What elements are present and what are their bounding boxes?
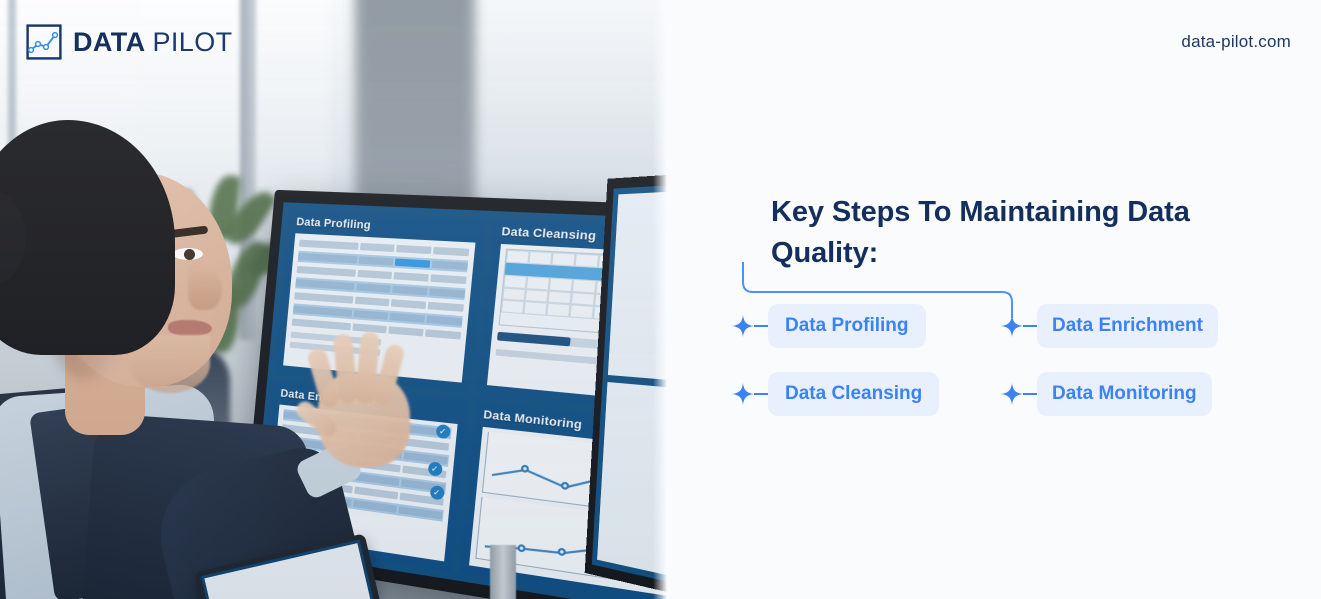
secondary-panel-top — [608, 190, 667, 382]
logo-word-pilot: PILOT — [153, 27, 233, 57]
logo-word-data: DATA — [73, 27, 145, 57]
person-foreground — [0, 120, 300, 599]
step-label-data-profiling[interactable]: Data Profiling — [768, 304, 926, 348]
secondary-panel-bottom — [597, 382, 667, 578]
step-label-data-monitoring[interactable]: Data Monitoring — [1037, 372, 1212, 416]
poster-canvas: Data Profiling Data Cleansing — [0, 0, 1321, 599]
step-node-data-profiling[interactable]: Data Profiling — [732, 304, 926, 348]
four-point-star-icon — [732, 383, 754, 405]
step-node-data-enrichment[interactable]: Data Enrichment — [1001, 304, 1218, 348]
step-label-data-enrichment[interactable]: Data Enrichment — [1037, 304, 1218, 348]
pupil — [184, 249, 195, 260]
line-chart-in-square-icon — [26, 24, 62, 60]
site-url[interactable]: data-pilot.com — [1181, 32, 1291, 52]
four-point-star-icon — [1001, 383, 1023, 405]
step-node-data-cleansing[interactable]: Data Cleansing — [732, 372, 939, 416]
secondary-screen — [592, 183, 667, 585]
nose — [188, 266, 222, 310]
pointing-hand — [310, 330, 425, 470]
four-point-star-icon — [1001, 315, 1023, 337]
step-node-data-monitoring[interactable]: Data Monitoring — [1001, 372, 1212, 416]
logo-wordmark: DATA PILOT — [73, 27, 233, 58]
brand-logo[interactable]: DATA PILOT — [26, 24, 233, 60]
node-connector-dash — [1023, 393, 1037, 395]
four-point-star-icon — [732, 315, 754, 337]
node-connector-dash — [754, 393, 768, 395]
steps-diagram: Data Profiling Data Cleansing Data Enric… — [727, 262, 1317, 422]
step-label-data-cleansing[interactable]: Data Cleansing — [768, 372, 939, 416]
hero-photo: Data Profiling Data Cleansing — [0, 0, 667, 599]
monitor-stand — [490, 545, 516, 599]
hair — [0, 120, 175, 355]
node-connector-dash — [1023, 325, 1037, 327]
content-panel: data-pilot.com Key Steps To Maintaining … — [667, 0, 1321, 599]
node-connector-dash — [754, 325, 768, 327]
verified-check-icon: ✓ — [435, 423, 450, 438]
lips — [168, 320, 212, 336]
